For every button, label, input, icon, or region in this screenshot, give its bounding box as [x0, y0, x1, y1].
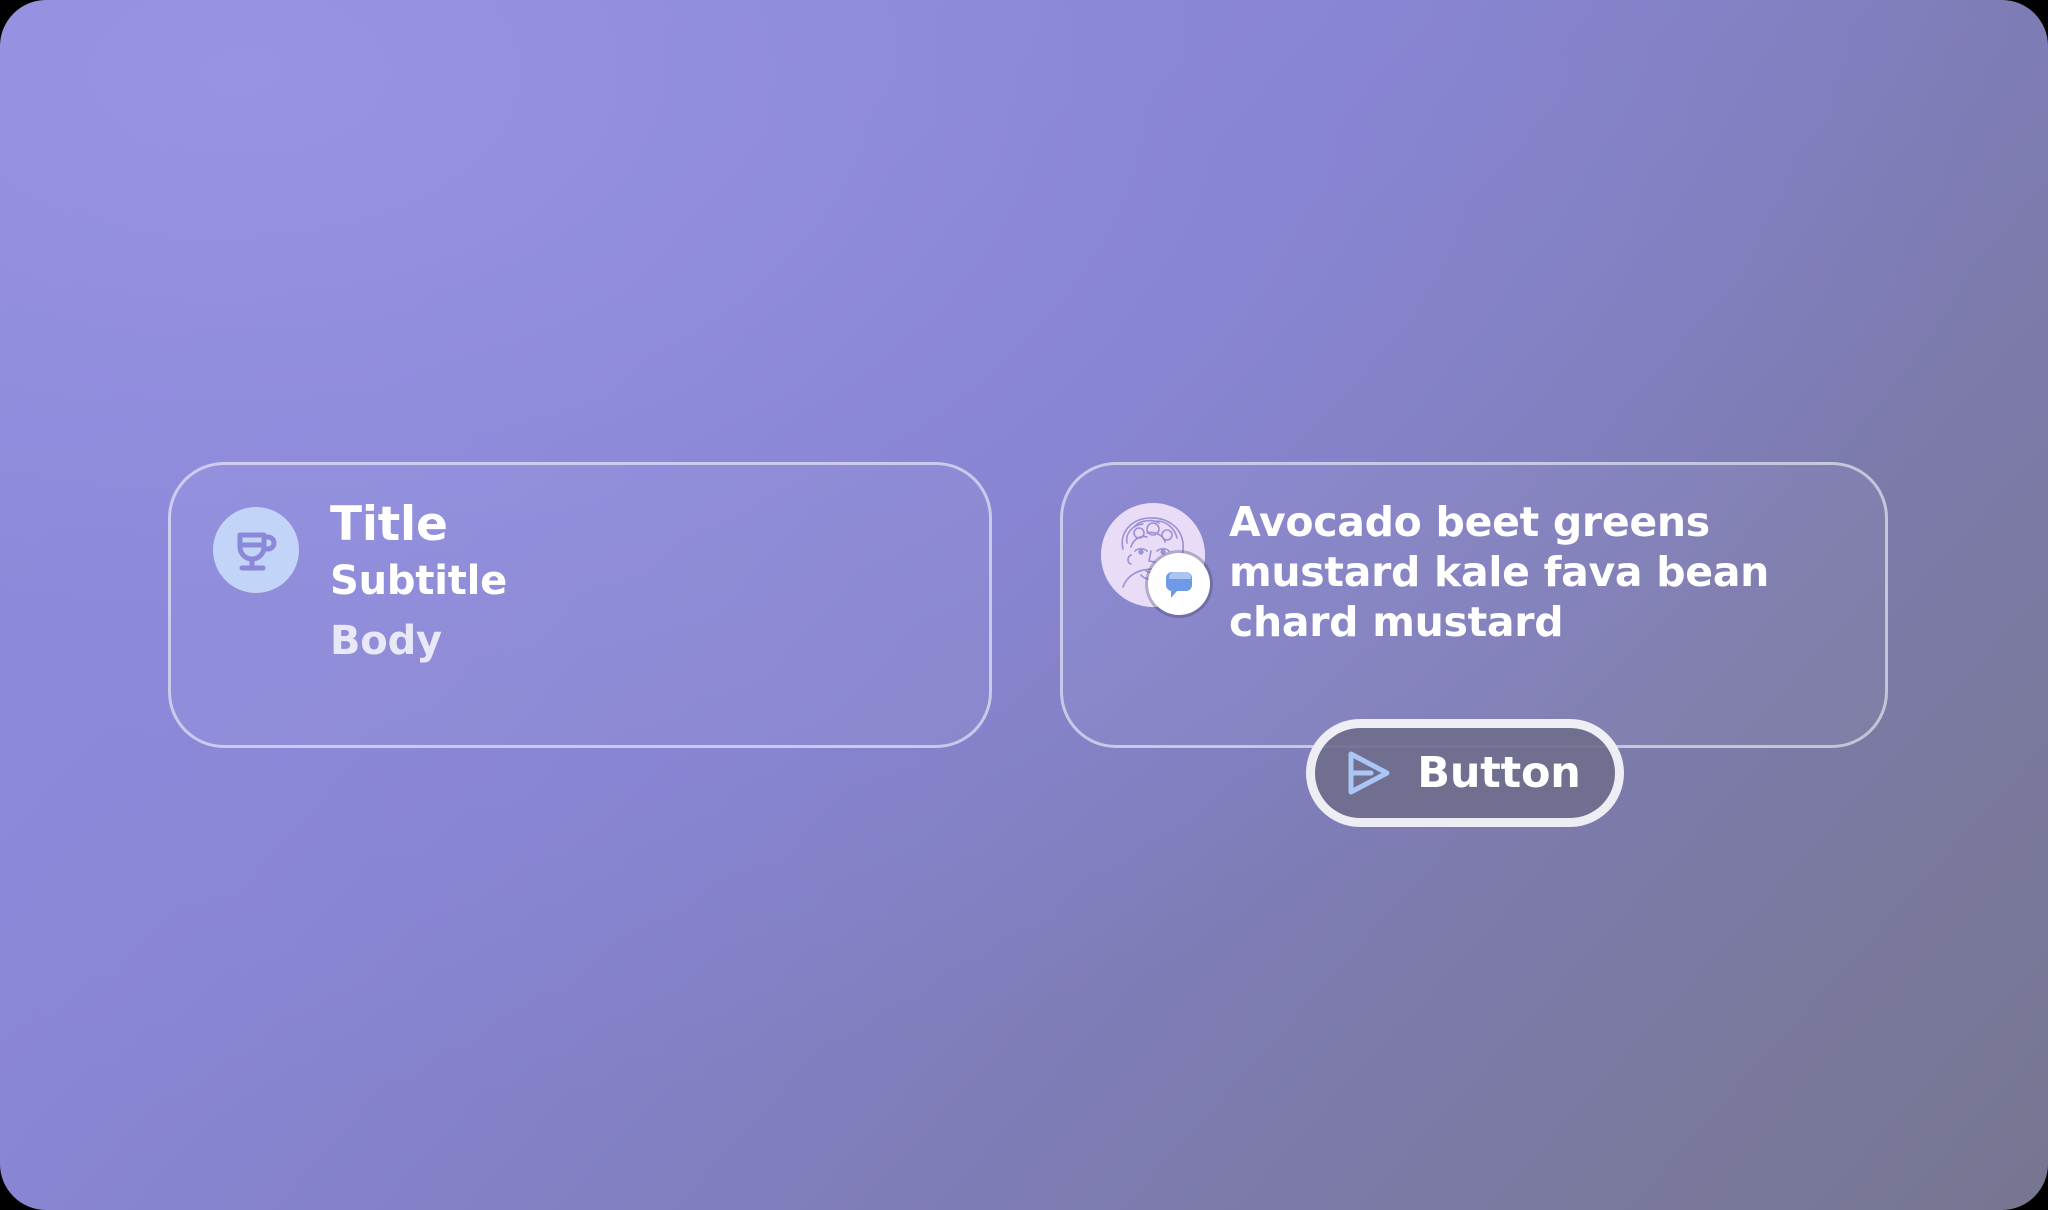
message-card[interactable]: Avocado beet greens mustard kale fava be…	[1060, 462, 1888, 748]
send-triangle-icon	[1341, 746, 1395, 800]
left-card-text-block: Title Subtitle Body	[330, 501, 507, 662]
send-button[interactable]: Button	[1306, 719, 1624, 827]
coffee-cup-icon-circle	[213, 507, 299, 593]
send-button-label: Button	[1417, 752, 1580, 795]
avatar	[1101, 503, 1205, 607]
chat-bubble-icon	[1160, 565, 1198, 603]
card-body: Body	[330, 620, 507, 662]
message-text: Avocado beet greens mustard kale fava be…	[1229, 497, 1849, 647]
card-title: Title	[330, 501, 507, 549]
list-item-card[interactable]: Title Subtitle Body	[168, 462, 992, 748]
card-subtitle: Subtitle	[330, 560, 507, 602]
canvas: Title Subtitle Body	[0, 0, 2048, 1210]
chat-bubble-badge	[1148, 553, 1210, 615]
coffee-cup-icon	[230, 524, 282, 576]
